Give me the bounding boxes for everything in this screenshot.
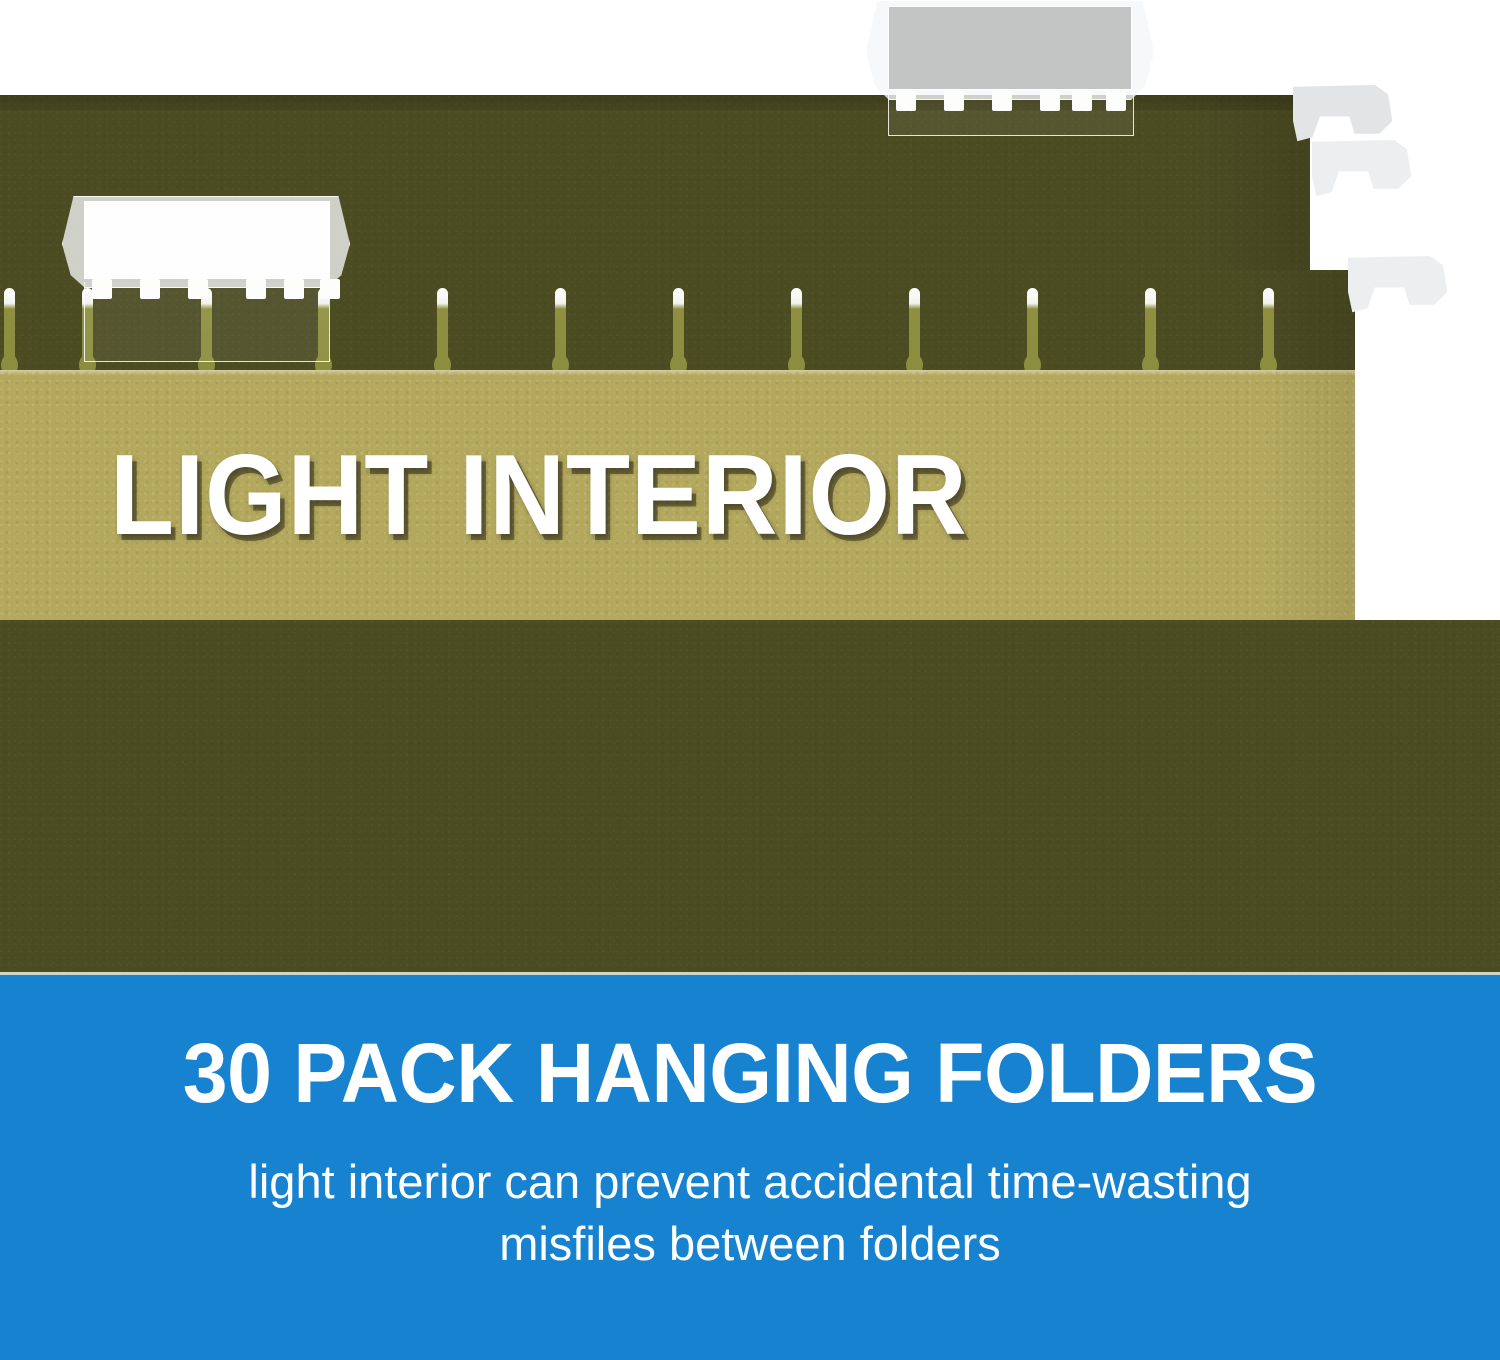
hanging-hook-icon <box>1348 256 1456 314</box>
light-interior-headline: LIGHT INTERIOR <box>110 439 968 553</box>
interior-slot <box>1024 288 1041 376</box>
hanging-hook-icon <box>1312 140 1420 198</box>
slot-stem <box>555 288 566 358</box>
tab-insert-card <box>888 6 1132 90</box>
tab-clip <box>944 91 964 111</box>
banner-subtext: light interior can prevent accidental ti… <box>0 1151 1500 1275</box>
banner-subtext-line-1: light interior can prevent accidental ti… <box>70 1151 1430 1213</box>
tab-clip <box>992 91 1012 111</box>
tab-clip <box>1040 91 1060 111</box>
tab-clip <box>1072 91 1092 111</box>
tab-clip <box>140 279 160 299</box>
interior-slot <box>788 288 805 376</box>
tab-clip <box>896 91 916 111</box>
tab-clip <box>92 279 112 299</box>
slot-stem <box>1145 288 1156 358</box>
slot-stem <box>1027 288 1038 358</box>
tab-clip <box>246 279 266 299</box>
folder-panel-front-bottom <box>0 620 1500 972</box>
interior-slot <box>1260 288 1277 376</box>
tab-clip <box>188 279 208 299</box>
tab-holder-left[interactable] <box>62 196 350 288</box>
slot-stem <box>673 288 684 358</box>
tab-clip <box>320 279 340 299</box>
banner-subtext-line-2: misfiles between folders <box>70 1213 1430 1275</box>
interior-slot <box>1142 288 1159 376</box>
product-photo: LIGHT INTERIOR <box>0 0 1500 972</box>
interior-slot <box>670 288 687 376</box>
banner-headline: 30 PACK HANGING FOLDERS <box>30 1031 1470 1115</box>
slot-stem <box>791 288 802 358</box>
slot-stem <box>437 288 448 358</box>
tab-insert-card <box>84 201 330 279</box>
tab-holder-top-center[interactable] <box>866 0 1154 100</box>
slot-stem <box>909 288 920 358</box>
interior-slot <box>552 288 569 376</box>
light-interior-band: LIGHT INTERIOR <box>0 370 1355 622</box>
hanging-hook-icon <box>1293 85 1401 143</box>
tab-clip <box>284 279 304 299</box>
product-marketing-image: LIGHT INTERIOR 30 PACK HANGING FOLDERS l… <box>0 0 1500 1360</box>
slot-stem <box>1263 288 1274 358</box>
slot-stem <box>4 288 15 358</box>
interior-slot <box>906 288 923 376</box>
interior-slot <box>1 288 18 376</box>
tab-clip <box>1106 91 1126 111</box>
interior-slot <box>434 288 451 376</box>
marketing-banner: 30 PACK HANGING FOLDERS light interior c… <box>0 972 1500 1360</box>
